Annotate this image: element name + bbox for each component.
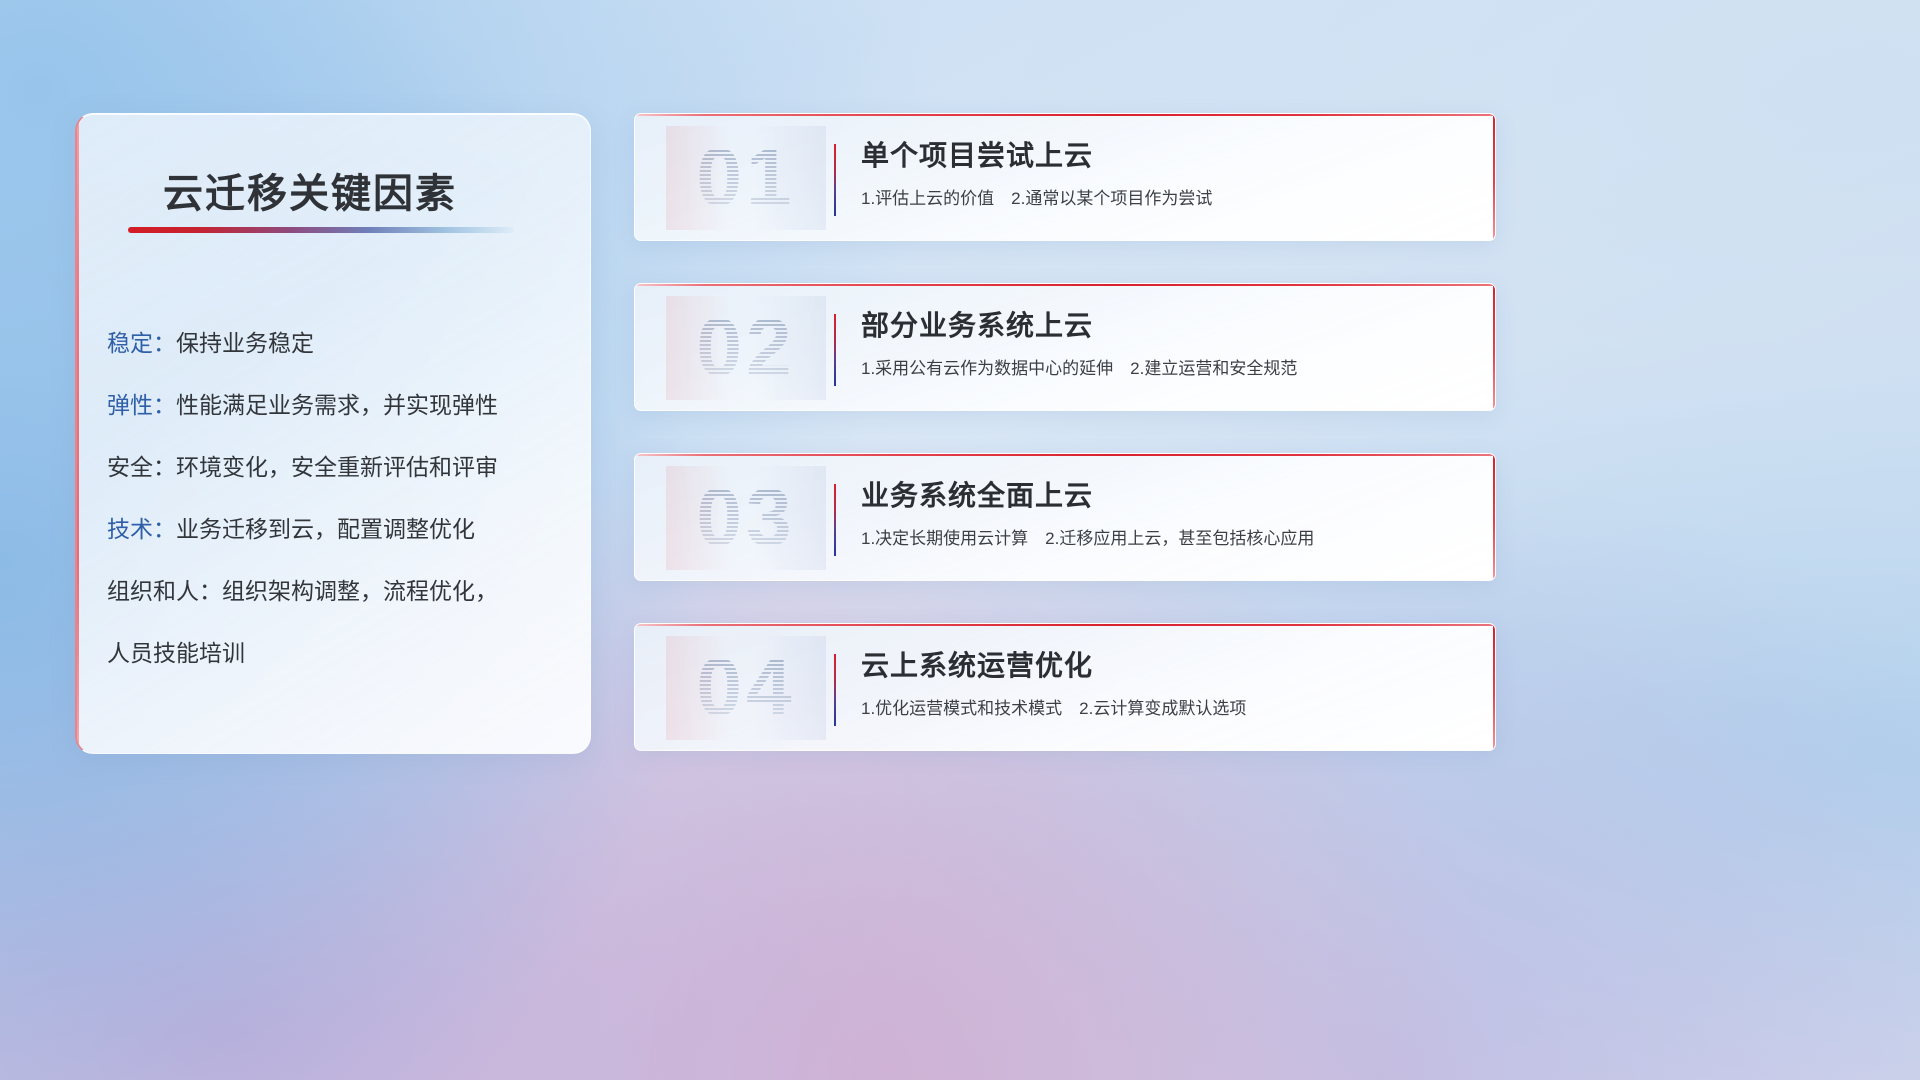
card-divider-gradient xyxy=(834,144,836,216)
step-content: 业务系统全面上云 1.决定长期使用云计算 2.迁移应用上云，甚至包括核心应用 xyxy=(861,476,1471,551)
step-description: 1.优化运营模式和技术模式 2.云计算变成默认选项 xyxy=(861,697,1471,721)
step-description: 1.评估上云的价值 2.通常以某个项目作为尝试 xyxy=(861,187,1471,211)
step-card-04[interactable]: 04 云上系统运营优化 1.优化运营模式和技术模式 2.云计算变成默认选项 xyxy=(634,623,1496,751)
step-content: 云上系统运营优化 1.优化运营模式和技术模式 2.云计算变成默认选项 xyxy=(861,646,1471,721)
factor-label: 安全： xyxy=(107,454,176,480)
factor-value: 环境变化，安全重新评估和评审 xyxy=(176,454,498,480)
step-content: 单个项目尝试上云 1.评估上云的价值 2.通常以某个项目作为尝试 xyxy=(861,136,1471,211)
slide-root: 云迁移关键因素 稳定：保持业务稳定 弹性：性能满足业务需求，并实现弹性 安全：环… xyxy=(0,0,1920,1080)
factor-label: 技术： xyxy=(107,516,176,542)
step-description: 1.采用公有云作为数据中心的延伸 2.建立运营和安全规范 xyxy=(861,357,1471,381)
factor-value: 保持业务稳定 xyxy=(176,330,314,356)
title-underline-gradient xyxy=(128,227,514,233)
factor-item-technology: 技术：业务迁移到云，配置调整优化 xyxy=(107,498,577,560)
step-heading: 云上系统运营优化 xyxy=(861,646,1471,686)
factor-label: 弹性： xyxy=(107,392,176,418)
factor-label: 组织和人： xyxy=(107,578,222,604)
factor-item-organization-continuation: 人员技能培训 xyxy=(107,622,577,684)
step-number-watermark: 03 xyxy=(666,466,826,570)
factor-value: 组织架构调整，流程优化， xyxy=(222,578,498,604)
factor-list: 稳定：保持业务稳定 弹性：性能满足业务需求，并实现弹性 安全：环境变化，安全重新… xyxy=(107,312,577,684)
step-number-watermark: 01 xyxy=(666,126,826,230)
step-number-watermark: 02 xyxy=(666,296,826,400)
factor-label: 稳定： xyxy=(107,330,176,356)
step-heading: 部分业务系统上云 xyxy=(861,306,1471,346)
factor-item-stability: 稳定：保持业务稳定 xyxy=(107,312,577,374)
factor-item-organization: 组织和人：组织架构调整，流程优化， xyxy=(107,560,577,622)
factor-item-elasticity: 弹性：性能满足业务需求，并实现弹性 xyxy=(107,374,577,436)
factor-item-security: 安全：环境变化，安全重新评估和评审 xyxy=(107,436,577,498)
factor-value: 性能满足业务需求，并实现弹性 xyxy=(176,392,498,418)
page-title: 云迁移关键因素 xyxy=(163,161,457,219)
step-heading: 业务系统全面上云 xyxy=(861,476,1471,516)
step-heading: 单个项目尝试上云 xyxy=(861,136,1471,176)
step-content: 部分业务系统上云 1.采用公有云作为数据中心的延伸 2.建立运营和安全规范 xyxy=(861,306,1471,381)
migration-steps-list: 01 单个项目尝试上云 1.评估上云的价值 2.通常以某个项目作为尝试 02 部… xyxy=(634,113,1496,793)
factor-value: 业务迁移到云，配置调整优化 xyxy=(176,516,475,542)
step-card-01[interactable]: 01 单个项目尝试上云 1.评估上云的价值 2.通常以某个项目作为尝试 xyxy=(634,113,1496,241)
card-divider-gradient xyxy=(834,314,836,386)
card-divider-gradient xyxy=(834,484,836,556)
step-card-02[interactable]: 02 部分业务系统上云 1.采用公有云作为数据中心的延伸 2.建立运营和安全规范 xyxy=(634,283,1496,411)
step-card-03[interactable]: 03 业务系统全面上云 1.决定长期使用云计算 2.迁移应用上云，甚至包括核心应… xyxy=(634,453,1496,581)
step-number-watermark: 04 xyxy=(666,636,826,740)
step-description: 1.决定长期使用云计算 2.迁移应用上云，甚至包括核心应用 xyxy=(861,527,1471,551)
card-divider-gradient xyxy=(834,654,836,726)
key-factors-panel: 云迁移关键因素 稳定：保持业务稳定 弹性：性能满足业务需求，并实现弹性 安全：环… xyxy=(75,113,591,754)
